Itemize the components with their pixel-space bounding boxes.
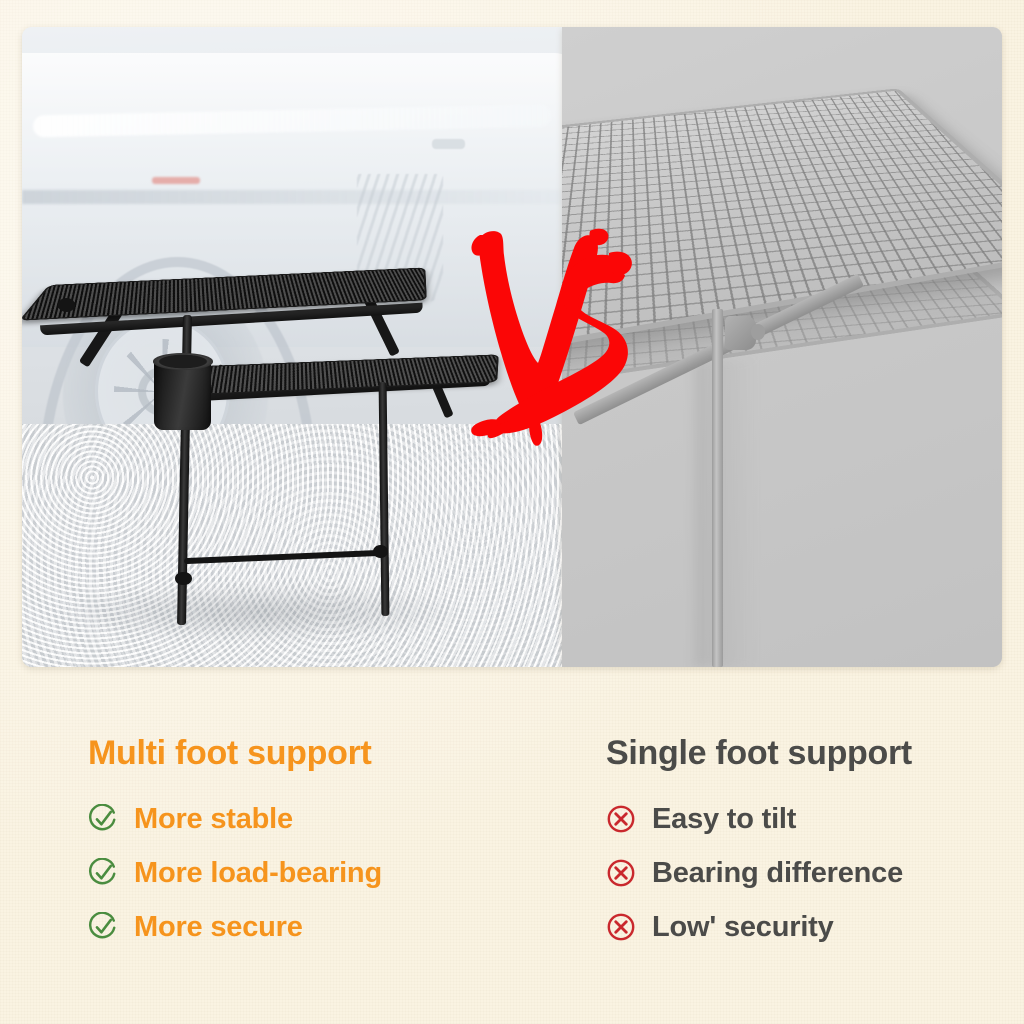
check-circle-icon (88, 912, 118, 942)
check-circle-icon (88, 804, 118, 834)
list-item: More secure (88, 907, 558, 947)
list-item: Bearing difference (606, 853, 1024, 893)
check-circle-icon (88, 858, 118, 888)
list-item-label: Low' security (652, 911, 834, 944)
truck-door-handle (432, 139, 464, 149)
list-item-label: More secure (134, 911, 303, 944)
single-leg-shadow (694, 360, 756, 667)
cup-holder-rim (153, 353, 212, 370)
single-support-leg (712, 309, 723, 667)
list-item: Easy to tilt (606, 799, 1024, 839)
x-circle-icon (606, 858, 636, 888)
left-product-photo (22, 27, 562, 667)
list-item-label: Bearing difference (652, 857, 903, 890)
pro-heading: Multi foot support (88, 734, 558, 773)
con-drawback-list: Easy to tilt Bearing difference (606, 799, 1024, 947)
list-item: Low' security (606, 907, 1024, 947)
list-item: More load-bearing (88, 853, 558, 893)
leg-clamp-knob (725, 316, 756, 349)
truck-bedline (22, 190, 562, 204)
comparison-section: Multi foot support More stable (0, 700, 1024, 1024)
table-ground-shadow (54, 584, 464, 642)
truck-tail-light (152, 177, 201, 184)
right-product-photo (562, 27, 1002, 667)
pro-column: Multi foot support More stable (88, 700, 558, 961)
list-item-label: More stable (134, 803, 293, 836)
tabletop-side-knob (58, 298, 75, 312)
pro-benefit-list: More stable More load-bearing (88, 799, 558, 947)
x-circle-icon (606, 912, 636, 942)
con-column: Single foot support Easy to tilt (606, 700, 1024, 961)
list-item: More stable (88, 799, 558, 839)
hero-image-strip (22, 27, 1002, 667)
con-heading: Single foot support (606, 734, 1024, 773)
list-item-label: More load-bearing (134, 857, 382, 890)
x-circle-icon (606, 804, 636, 834)
leg-adjust-knob-front (175, 572, 191, 585)
list-item-label: Easy to tilt (652, 803, 796, 836)
